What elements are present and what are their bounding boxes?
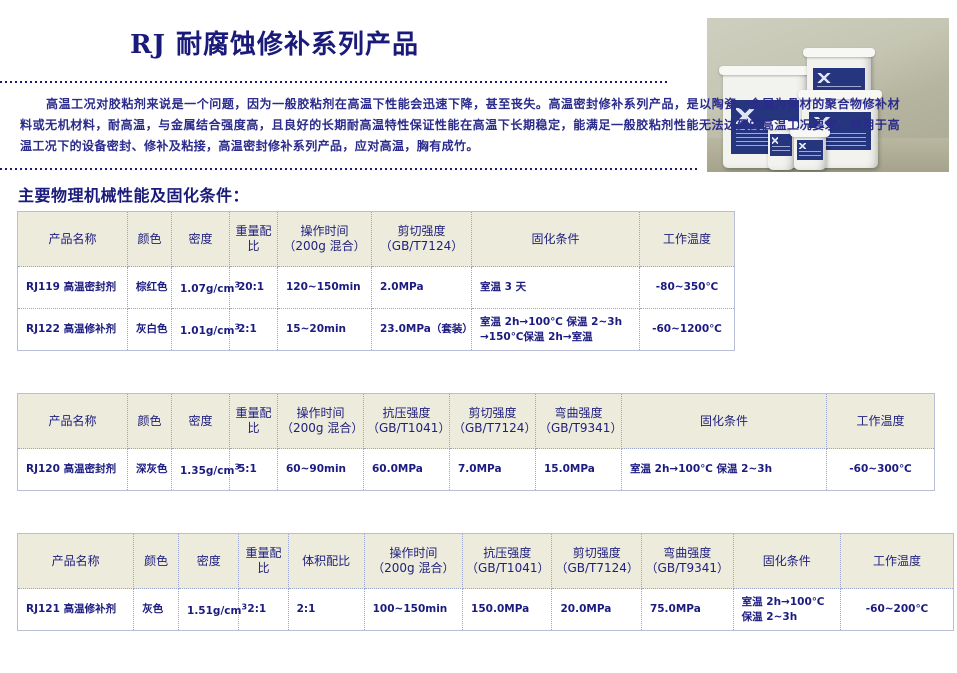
column-header: 颜色	[134, 534, 179, 589]
column-header: 剪切强度（GB/T7124）	[552, 534, 641, 589]
cell-temp-range: -60~1200℃	[640, 309, 735, 351]
column-header: 剪切强度（GB/T7124）	[372, 212, 472, 267]
column-header: 剪切强度（GB/T7124）	[450, 394, 536, 449]
column-header: 抗压强度（GB/T1041）	[364, 394, 450, 449]
cell-shear-strength: 2.0MPa	[372, 267, 472, 309]
column-header: 工作温度	[840, 534, 953, 589]
column-header: 固化条件	[622, 394, 827, 449]
cell-flexural-strength: 75.0MPa	[641, 589, 733, 631]
cell-density: 1.51g/cm3	[179, 589, 239, 631]
column-header: 重量配比	[230, 212, 278, 267]
column-header: 密度	[172, 212, 230, 267]
column-header: 抗压强度（GB/T1041）	[463, 534, 552, 589]
column-header: 体积配比	[288, 534, 364, 589]
cell-density: 1.01g/cm3	[172, 309, 230, 351]
section-heading: 主要物理机械性能及固化条件：	[18, 182, 249, 206]
spec-table-3: 产品名称颜色密度重量配比体积配比操作时间（200g 混合）抗压强度（GB/T10…	[17, 533, 954, 631]
table-header-row: 产品名称颜色密度重量配比体积配比操作时间（200g 混合）抗压强度（GB/T10…	[18, 534, 954, 589]
cell-work-time: 15~20min	[278, 309, 372, 351]
cell-product-name: RJ119 高温密封剂	[18, 267, 128, 309]
column-header: 密度	[179, 534, 239, 589]
cell-work-time: 100~150min	[364, 589, 462, 631]
column-header: 工作温度	[827, 394, 935, 449]
intro-paragraph: 高温工况对胶粘剂来说是一个问题，因为一般胶粘剂在高温下性能会迅速下降，甚至丧失。…	[20, 94, 900, 157]
column-header: 固化条件	[733, 534, 840, 589]
cell-color: 灰白色	[128, 309, 172, 351]
cell-cure-condition: 室温 2h→100℃保温 2~3h	[733, 589, 840, 631]
column-header: 产品名称	[18, 394, 128, 449]
divider-top	[0, 81, 668, 83]
divider-bottom	[0, 168, 700, 170]
cell-shear-strength: 23.0MPa（套装）	[372, 309, 472, 351]
cell-temp-range: -80~350℃	[640, 267, 735, 309]
cell-product-name: RJ120 高温密封剂	[18, 449, 128, 491]
table-row: RJ121 高温修补剂灰色1.51g/cm32:12:1100~150min15…	[18, 589, 954, 631]
spec-table-1: 产品名称颜色密度重量配比操作时间（200g 混合）剪切强度（GB/T7124）固…	[17, 211, 735, 351]
column-header: 颜色	[128, 212, 172, 267]
cell-work-time: 120~150min	[278, 267, 372, 309]
table-header-row: 产品名称颜色密度重量配比操作时间（200g 混合）剪切强度（GB/T7124）固…	[18, 212, 735, 267]
cell-compressive-strength: 150.0MPa	[463, 589, 552, 631]
cell-product-name: RJ122 高温修补剂	[18, 309, 128, 351]
cell-color: 棕红色	[128, 267, 172, 309]
cell-cure-condition: 室温 2h→100℃ 保温 2~3h→150℃保温 2h→室温	[472, 309, 640, 351]
column-header: 弯曲强度（GB/T9341）	[536, 394, 622, 449]
cell-density: 1.35g/cm3	[172, 449, 230, 491]
cell-volume-ratio: 2:1	[288, 589, 364, 631]
column-header: 颜色	[128, 394, 172, 449]
cell-work-time: 60~90min	[278, 449, 364, 491]
cell-color: 深灰色	[128, 449, 172, 491]
column-header: 弯曲强度（GB/T9341）	[641, 534, 733, 589]
column-header: 工作温度	[640, 212, 735, 267]
cell-temp-range: -60~300℃	[827, 449, 935, 491]
cell-cure-condition: 室温 3 天	[472, 267, 640, 309]
column-header: 重量配比	[239, 534, 288, 589]
column-header: 操作时间（200g 混合）	[364, 534, 462, 589]
cell-shear-strength: 7.0MPa	[450, 449, 536, 491]
cell-temp-range: -60~200℃	[840, 589, 953, 631]
table-row: RJ122 高温修补剂灰白色1.01g/cm32:115~20min23.0MP…	[18, 309, 735, 351]
cell-cure-condition: 室温 2h→100℃ 保温 2~3h	[622, 449, 827, 491]
column-header: 操作时间（200g 混合）	[278, 212, 372, 267]
bucket-lid	[803, 48, 875, 57]
column-header: 操作时间（200g 混合）	[278, 394, 364, 449]
column-header: 重量配比	[230, 394, 278, 449]
column-header: 密度	[172, 394, 230, 449]
cell-product-name: RJ121 高温修补剂	[18, 589, 134, 631]
cell-density: 1.07g/cm3	[172, 267, 230, 309]
cell-flexural-strength: 15.0MPa	[536, 449, 622, 491]
table-row: RJ120 高温密封剂深灰色1.35g/cm35:160~90min60.0MP…	[18, 449, 935, 491]
spec-table-2: 产品名称颜色密度重量配比操作时间（200g 混合）抗压强度（GB/T1041）剪…	[17, 393, 935, 491]
table-header-row: 产品名称颜色密度重量配比操作时间（200g 混合）抗压强度（GB/T1041）剪…	[18, 394, 935, 449]
cell-shear-strength: 20.0MPa	[552, 589, 641, 631]
column-header: 产品名称	[18, 534, 134, 589]
bucket-lid	[719, 66, 811, 75]
cell-compressive-strength: 60.0MPa	[364, 449, 450, 491]
column-header: 固化条件	[472, 212, 640, 267]
table-row: RJ119 高温密封剂棕红色1.07g/cm320:1120~150min2.0…	[18, 267, 735, 309]
page-title: RJ 耐腐蚀修补系列产品	[130, 24, 419, 61]
column-header: 产品名称	[18, 212, 128, 267]
cell-color: 灰色	[134, 589, 179, 631]
